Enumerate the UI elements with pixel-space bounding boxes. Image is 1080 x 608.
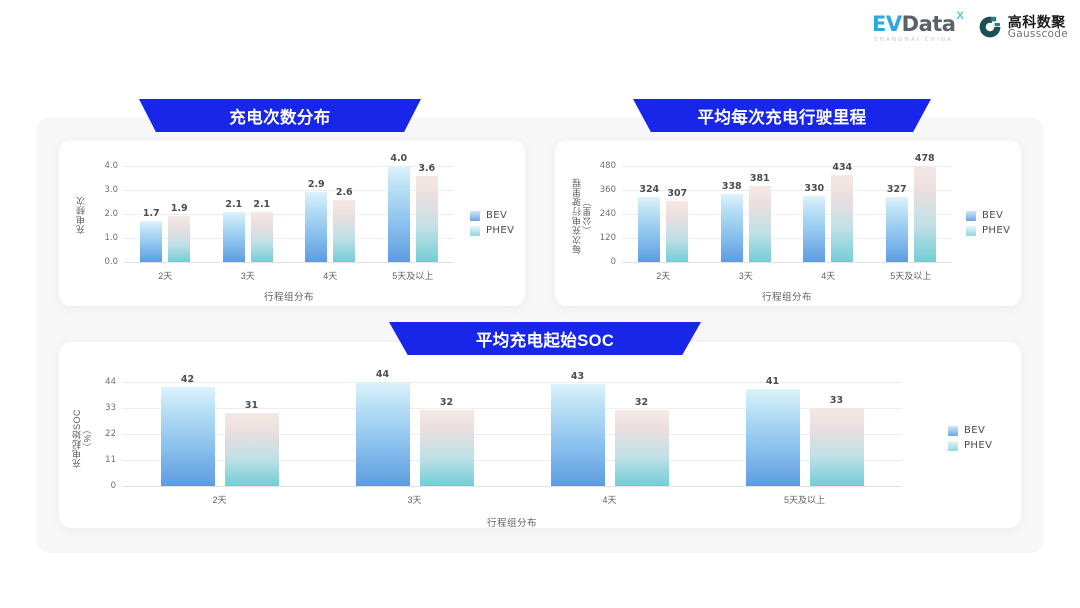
- bar-value-label: 44: [376, 369, 389, 380]
- chart-legend: BEVPHEV: [948, 425, 992, 451]
- dashboard-page: EV Data X SHANGHAI CHINA 高科数聚 Gausscode …: [0, 0, 1080, 608]
- chart-title-banner-1: 充电次数分布: [139, 99, 421, 132]
- legend-label-bev: BEV: [964, 425, 985, 436]
- chart-title-3: 平均充电起始SOC: [472, 327, 618, 351]
- bar-bev[interactable]: [551, 384, 605, 486]
- legend-swatch-phev-icon: [948, 441, 958, 451]
- legend-item-phev[interactable]: PHEV: [948, 440, 992, 451]
- bar-value-label: 33: [830, 395, 843, 406]
- y-axis-tick: 44: [72, 377, 116, 387]
- bar-value-label: 43: [571, 371, 584, 382]
- chart-title-banner-3: 平均充电起始SOC: [389, 322, 701, 355]
- legend-swatch-bev-icon: [948, 426, 958, 436]
- chart-title-1: 充电次数分布: [225, 104, 334, 128]
- bar-phev[interactable]: [225, 413, 279, 486]
- chart-title-banner-2: 平均每次充电行驶里程: [633, 99, 931, 132]
- x-axis-tick: 4天: [602, 493, 616, 506]
- y-axis-tick: 11: [72, 455, 116, 465]
- bar-phev[interactable]: [420, 410, 474, 486]
- bar-value-label: 41: [766, 376, 779, 387]
- bar-bev[interactable]: [746, 389, 800, 486]
- x-axis-tick: 2天: [212, 493, 226, 506]
- y-axis-tick: 0: [72, 481, 116, 491]
- x-axis-tick: 3天: [407, 493, 421, 506]
- y-axis-tick: 22: [72, 429, 116, 439]
- bar-value-label: 32: [635, 397, 648, 408]
- legend-item-bev[interactable]: BEV: [948, 425, 992, 436]
- bar-value-label: 31: [245, 400, 258, 411]
- bar-phev[interactable]: [810, 408, 864, 486]
- x-axis-label: 行程组分布: [487, 515, 537, 529]
- grid-line: [122, 486, 902, 487]
- bar-phev[interactable]: [615, 410, 669, 486]
- chart-title-2: 平均每次充电行驶里程: [694, 104, 871, 128]
- x-axis-tick: 5天及以上: [784, 493, 825, 506]
- y-axis-tick: 33: [72, 403, 116, 413]
- grid-line: [122, 382, 902, 383]
- legend-label-phev: PHEV: [964, 440, 992, 451]
- bar-value-label: 32: [440, 397, 453, 408]
- bar-value-label: 42: [181, 374, 194, 385]
- bar-bev[interactable]: [161, 387, 215, 486]
- chart-start-soc: 充电起始SOC（%）01122334442312天44323天43324天413…: [0, 0, 1080, 608]
- bar-bev[interactable]: [356, 382, 410, 486]
